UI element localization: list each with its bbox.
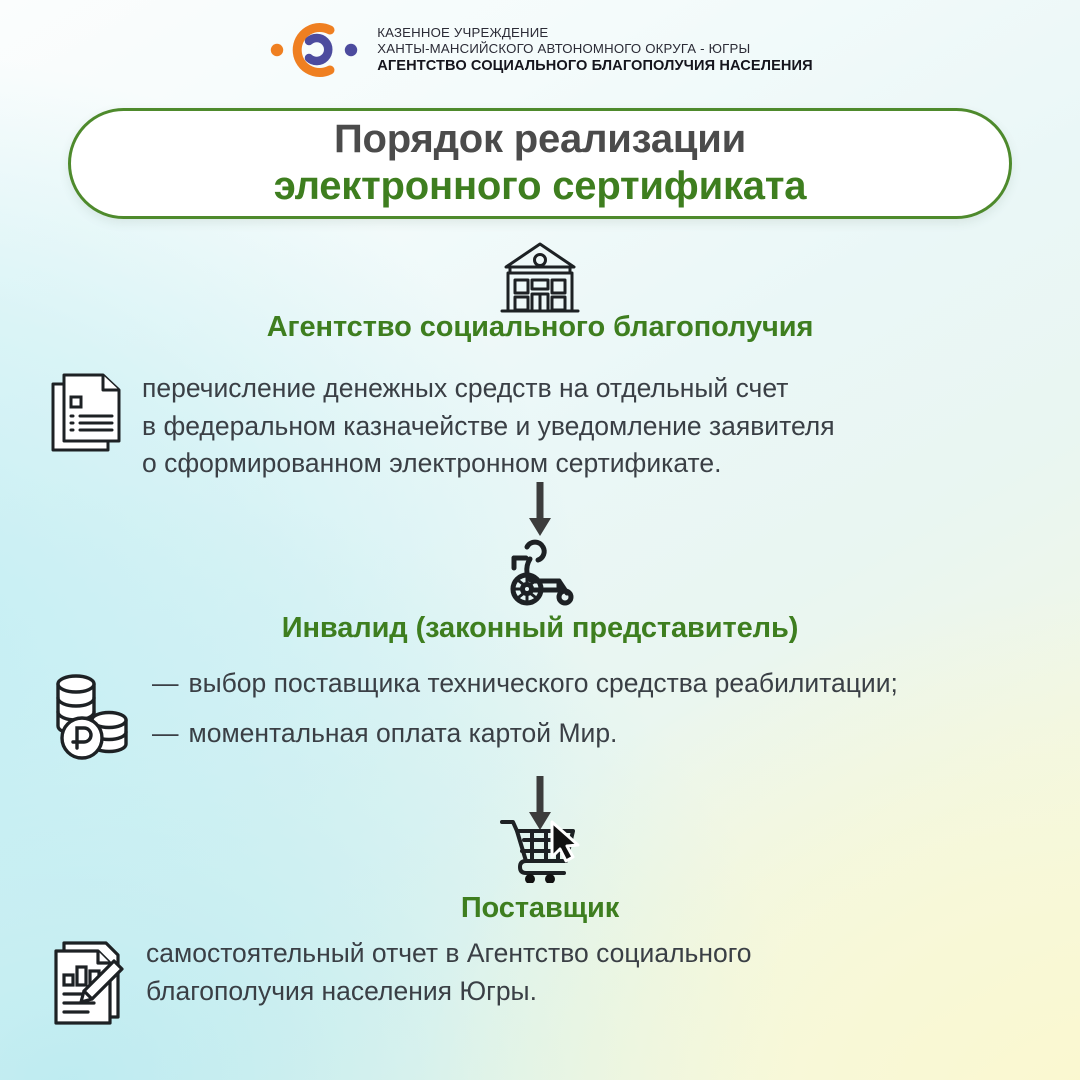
step-1-heading: Агентство социального благополучия	[0, 311, 1080, 344]
bullet-text: выбор поставщика технического средства р…	[189, 666, 898, 700]
page-title-line-1: Порядок реализации	[334, 118, 746, 161]
documents-icon	[48, 370, 124, 461]
bullet-text: моментальная оплата картой Мир.	[189, 716, 618, 750]
step-2-heading: Инвалид (законный представитель)	[0, 612, 1080, 645]
government-building-icon	[0, 240, 1080, 318]
step-2-bullets: — выбор поставщика технического средства…	[152, 666, 898, 751]
org-header: КАЗЕННОЕ УЧРЕЖДЕНИЕ ХАНТЫ-МАНСИЙСКОГО АВ…	[0, 18, 1080, 82]
step-1-body: перечисление денежных средств на отдельн…	[48, 370, 1038, 483]
agency-logo-icon	[267, 18, 363, 82]
step-3-text: самостоятельный отчет в Агентство социал…	[146, 935, 752, 1010]
bullet-dash: —	[152, 666, 179, 700]
org-name-block: КАЗЕННОЕ УЧРЕЖДЕНИЕ ХАНТЫ-МАНСИЙСКОГО АВ…	[377, 25, 812, 76]
bullet-dash: —	[152, 716, 179, 750]
report-pencil-icon	[48, 935, 128, 1032]
list-item: — выбор поставщика технического средства…	[152, 666, 898, 700]
shopping-cart-cursor-icon	[0, 813, 1080, 883]
page-title-line-2: электронного сертификата	[274, 164, 807, 209]
step-3-heading: Поставщик	[0, 892, 1080, 925]
step-1-text: перечисление денежных средств на отдельн…	[142, 370, 835, 483]
down-arrow-icon	[0, 482, 1080, 538]
step-2-body: — выбор поставщика технического средства…	[48, 666, 1058, 767]
step-3-body: самостоятельный отчет в Агентство социал…	[48, 935, 1038, 1032]
org-line-3: АГЕНТСТВО СОЦИАЛЬНОГО БЛАГОПОЛУЧИЯ НАСЕЛ…	[377, 58, 812, 76]
page-title-card: Порядок реализации электронного сертифик…	[68, 108, 1012, 219]
coins-ruble-icon	[48, 666, 134, 767]
org-line-1: КАЗЕННОЕ УЧРЕЖДЕНИЕ	[377, 25, 812, 41]
org-line-2: ХАНТЫ-МАНСИЙСКОГО АВТОНОМНОГО ОКРУГА - Ю…	[377, 41, 812, 57]
infographic-poster: КАЗЕННОЕ УЧРЕЖДЕНИЕ ХАНТЫ-МАНСИЙСКОГО АВ…	[0, 0, 1080, 1080]
wheelchair-user-icon	[0, 533, 1080, 607]
list-item: — моментальная оплата картой Мир.	[152, 716, 898, 750]
